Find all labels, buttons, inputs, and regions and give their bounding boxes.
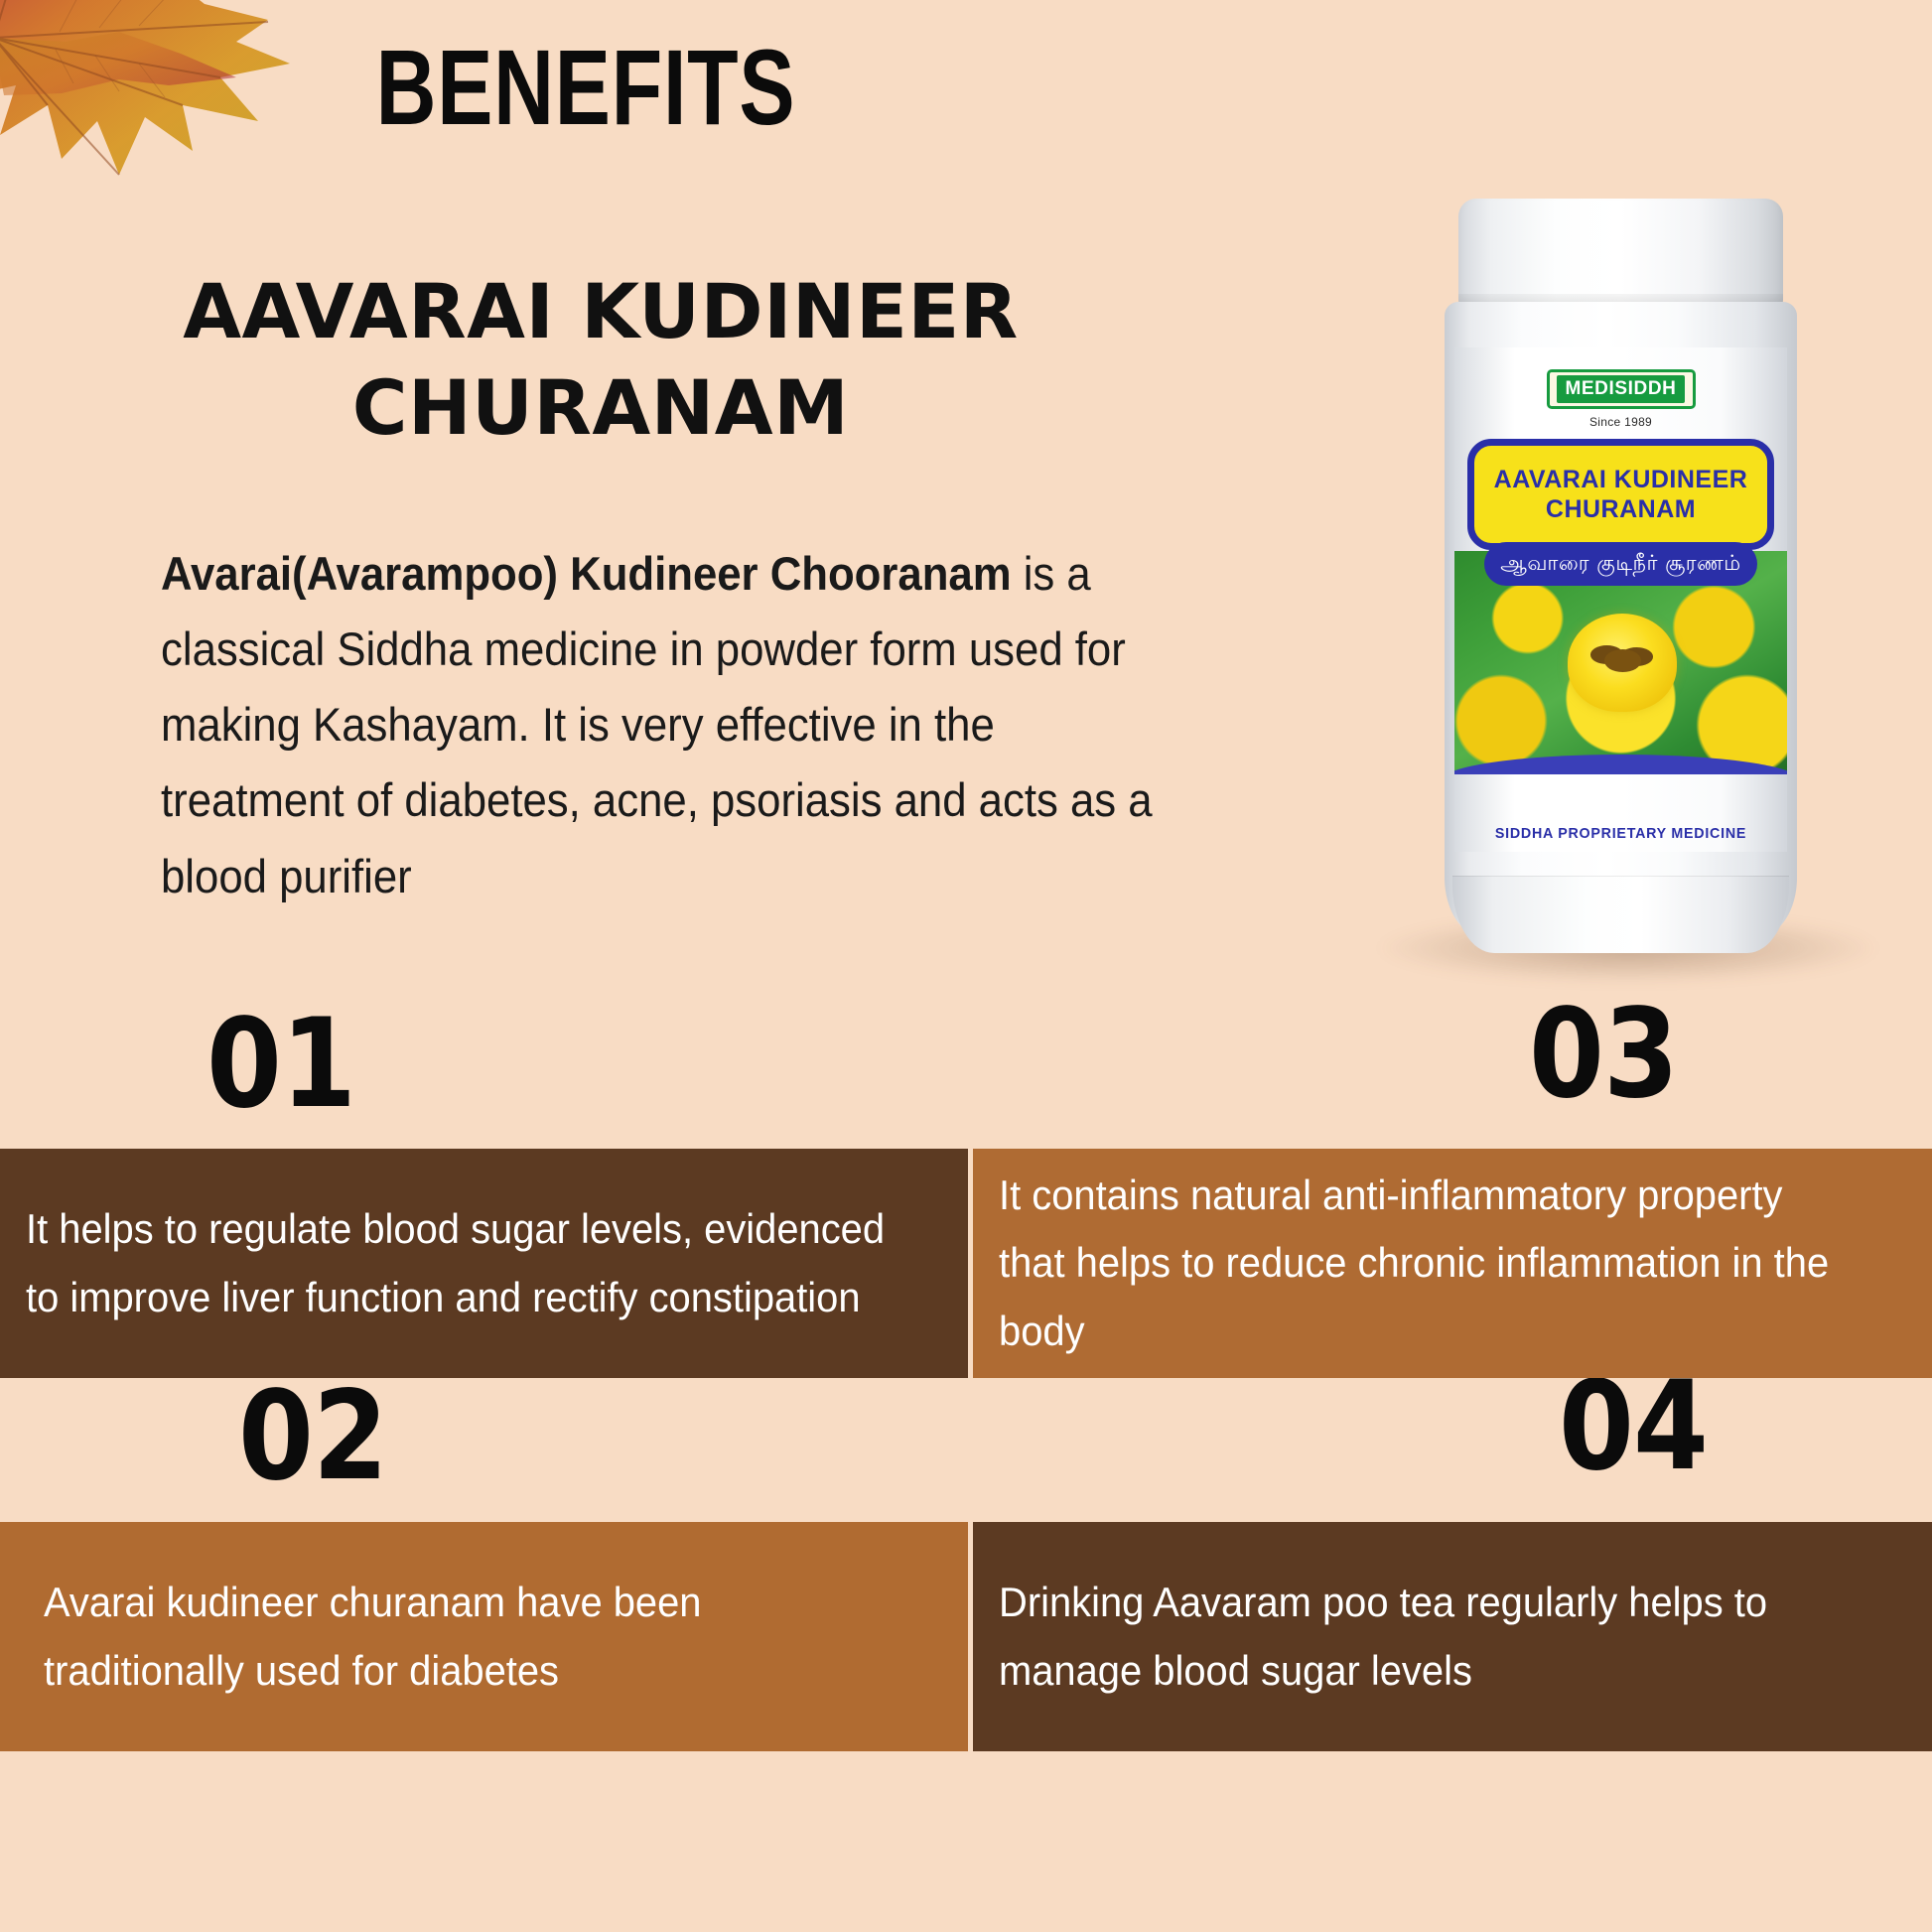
jar-tamil-name: ஆவாரை குடிநீர் சூரணம் bbox=[1484, 542, 1757, 586]
benefit-text-02: Avarai kudineer churanam have been tradi… bbox=[44, 1569, 890, 1704]
benefit-text-04: Drinking Aavaram poo tea regularly helps… bbox=[999, 1569, 1854, 1704]
benefits-infographic: BENEFITS AAVARAI KUDINEER CHURANAM Avara… bbox=[0, 0, 1932, 1932]
intro-paragraph: Avarai(Avarampoo) Kudineer Chooranam is … bbox=[161, 536, 1181, 914]
brand-since-text: Since 1989 bbox=[1589, 415, 1652, 429]
benefit-number-01: 01 bbox=[207, 1003, 355, 1126]
benefit-number-02: 02 bbox=[238, 1375, 387, 1498]
intro-rest: is a classical Siddha medicine in powder… bbox=[161, 547, 1153, 902]
jar-label: MEDISIDDH Since 1989 AAVARAI KUDINEER CH… bbox=[1454, 347, 1787, 852]
product-name-line-1: AAVARAI KUDINEER bbox=[129, 263, 1072, 359]
benefit-text-03: It contains natural anti-inflammatory pr… bbox=[999, 1162, 1854, 1364]
jar-footer-text: SIDDHA PROPRIETARY MEDICINE bbox=[1462, 825, 1778, 842]
benefit-panel-04: Drinking Aavaram poo tea regularly helps… bbox=[973, 1522, 1932, 1751]
jar-base bbox=[1452, 876, 1789, 953]
jar-name-plate: AAVARAI KUDINEER CHURANAM bbox=[1467, 439, 1774, 550]
product-jar-image: MEDISIDDH Since 1989 AAVARAI KUDINEER CH… bbox=[1445, 199, 1797, 953]
benefit-number-03: 03 bbox=[1529, 993, 1678, 1116]
jar-name-line-1: AAVARAI KUDINEER bbox=[1494, 465, 1748, 495]
brand-logo: MEDISIDDH bbox=[1547, 369, 1696, 409]
benefit-panel-02: Avarai kudineer churanam have been tradi… bbox=[0, 1522, 968, 1751]
product-name-line-2: CHURANAM bbox=[129, 359, 1072, 456]
product-name-heading: AAVARAI KUDINEER CHURANAM bbox=[129, 263, 1072, 457]
jar-lid bbox=[1458, 199, 1783, 310]
benefit-text-01: It helps to regulate blood sugar levels,… bbox=[26, 1195, 889, 1330]
brand-logo-text: MEDISIDDH bbox=[1557, 375, 1684, 403]
jar-body: MEDISIDDH Since 1989 AAVARAI KUDINEER CH… bbox=[1445, 302, 1797, 937]
benefit-panel-03: It contains natural anti-inflammatory pr… bbox=[973, 1149, 1932, 1378]
benefit-number-04: 04 bbox=[1559, 1365, 1708, 1488]
jar-blue-wave bbox=[1454, 755, 1787, 774]
jar-name-line-2: CHURANAM bbox=[1546, 494, 1696, 525]
intro-bold-lead: Avarai(Avarampoo) Kudineer Chooranam bbox=[161, 547, 1012, 600]
benefit-panel-01: It helps to regulate blood sugar levels,… bbox=[0, 1149, 968, 1378]
page-title: BENEFITS bbox=[129, 34, 1042, 141]
